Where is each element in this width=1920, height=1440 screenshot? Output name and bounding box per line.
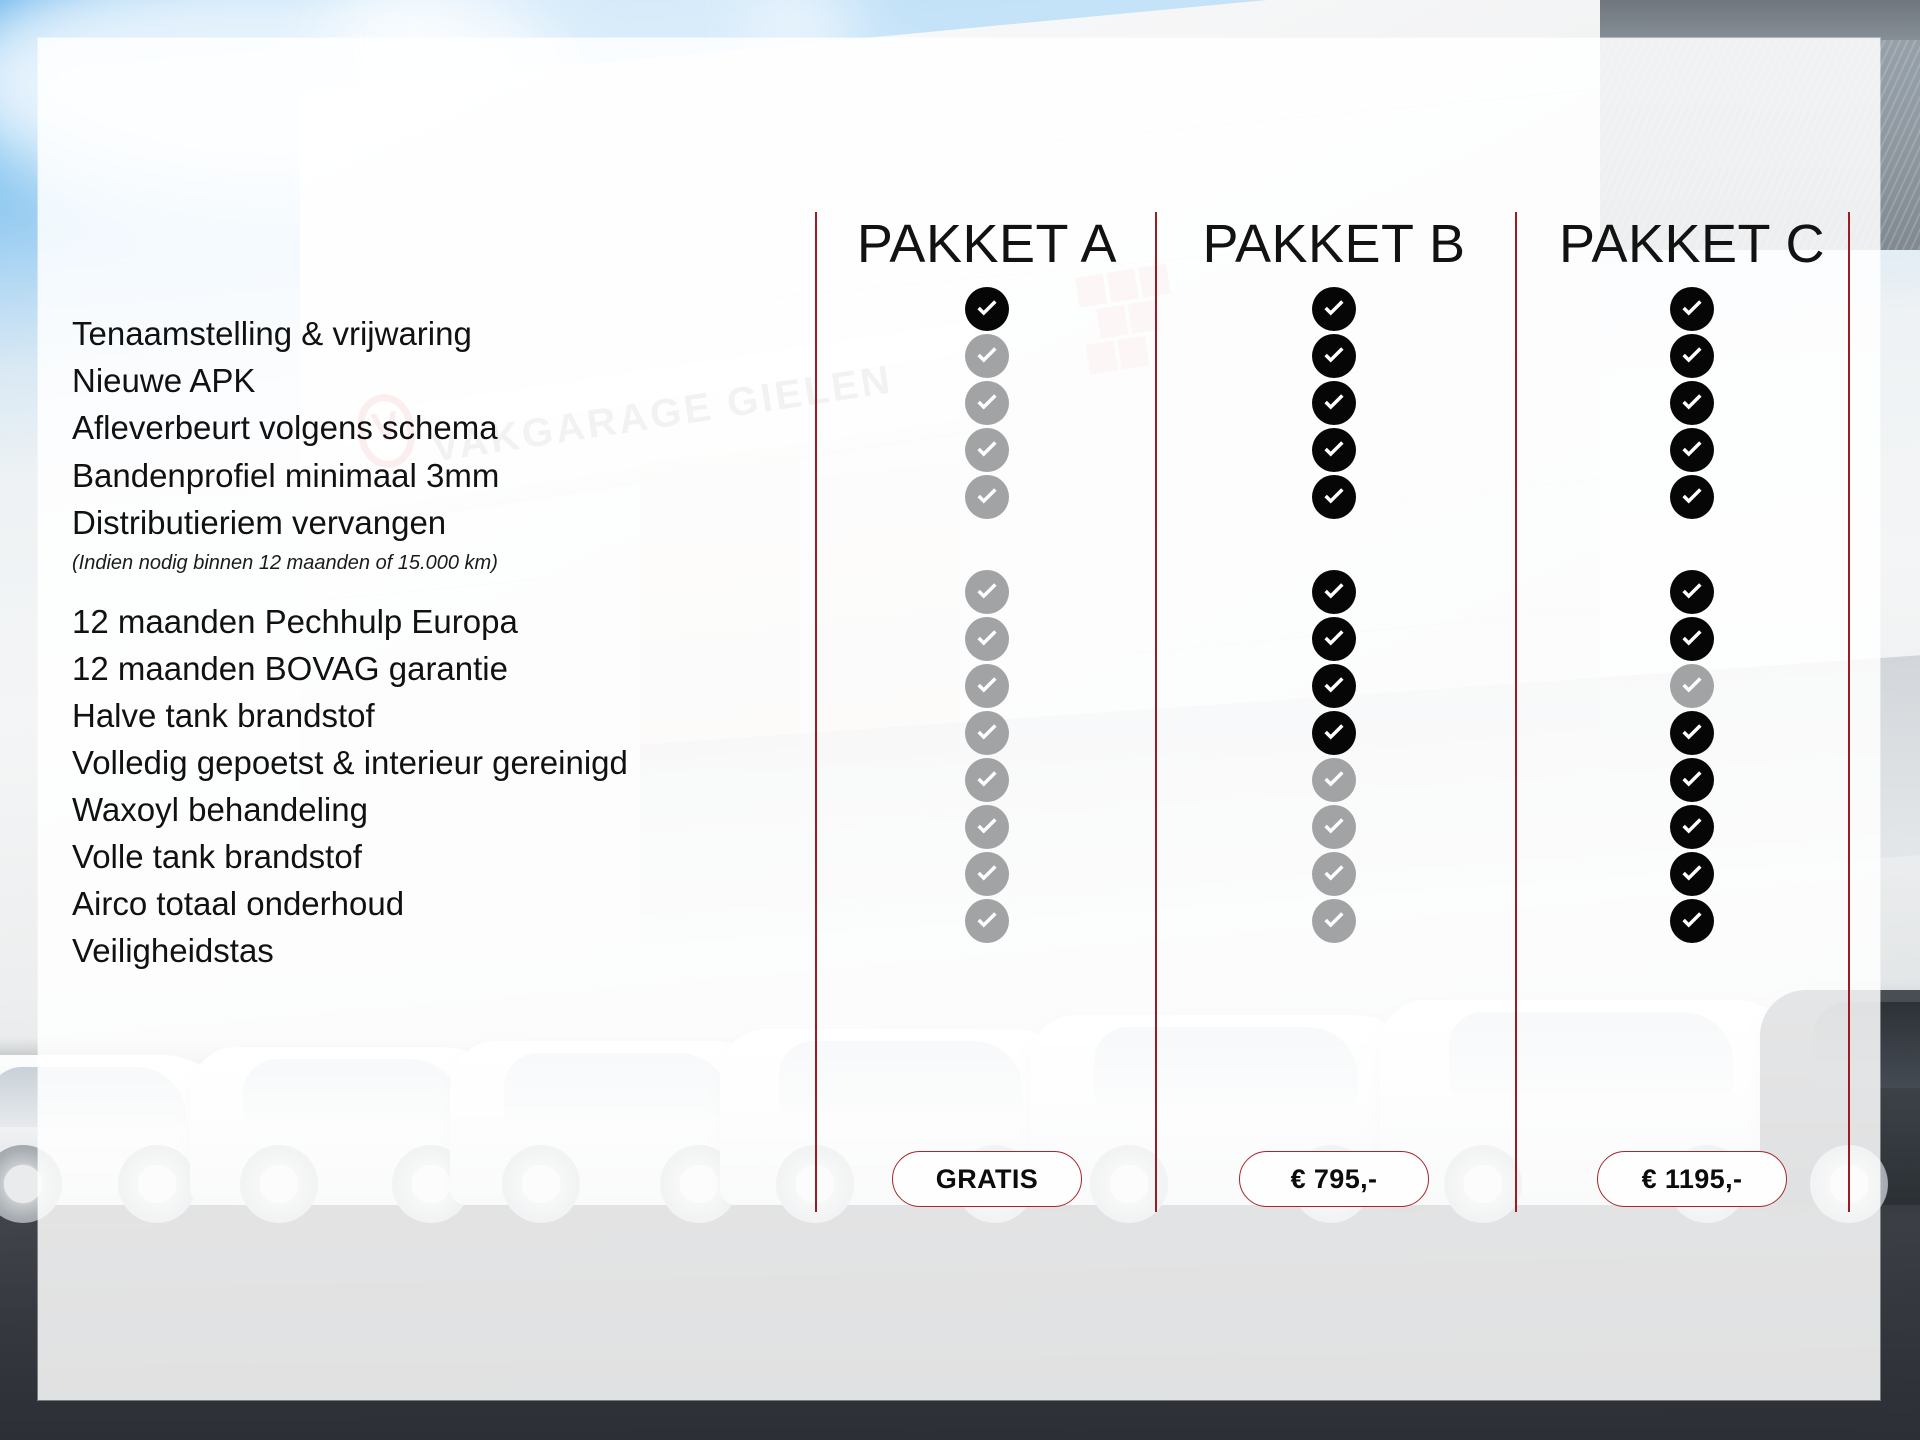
- price-button-b[interactable]: € 795,-: [1239, 1151, 1429, 1207]
- check-circle-icon: [1670, 570, 1714, 614]
- feature-label: Volle tank brandstof: [72, 839, 362, 875]
- check-circle-icon: [965, 334, 1009, 378]
- check-circle-icon: [1312, 899, 1356, 943]
- check-circle-icon: [1670, 805, 1714, 849]
- feature-label: Distributieriem vervangen: [72, 505, 446, 541]
- check-circle-icon: [1670, 381, 1714, 425]
- check-circle-icon: [1312, 381, 1356, 425]
- check-circle-icon: [965, 381, 1009, 425]
- package-header-c: PAKKET C: [1462, 213, 1920, 279]
- check-circle-icon: [1670, 475, 1714, 519]
- feature-label: Airco totaal onderhoud: [72, 886, 404, 922]
- feature-label: Halve tank brandstof: [72, 698, 375, 734]
- price-button-a[interactable]: GRATIS: [892, 1151, 1082, 1207]
- check-circle-icon: [1670, 899, 1714, 943]
- check-circle-icon: [965, 805, 1009, 849]
- check-circle-icon: [965, 758, 1009, 802]
- column-divider: [815, 212, 817, 1212]
- column-divider: [1848, 212, 1850, 1212]
- check-circle-icon: [1670, 334, 1714, 378]
- feature-label: Veiligheidstas: [72, 933, 274, 969]
- check-circle-icon: [965, 852, 1009, 896]
- check-circle-icon: [1312, 287, 1356, 331]
- check-circle-icon: [1670, 711, 1714, 755]
- check-circle-icon: [1312, 570, 1356, 614]
- check-circle-icon: [965, 570, 1009, 614]
- check-circle-icon: [965, 711, 1009, 755]
- feature-label: Bandenprofiel minimaal 3mm: [72, 458, 499, 494]
- check-circle-icon: [965, 617, 1009, 661]
- check-circle-icon: [1312, 758, 1356, 802]
- check-circle-icon: [1670, 664, 1714, 708]
- check-circle-icon: [1670, 287, 1714, 331]
- check-circle-icon: [1670, 758, 1714, 802]
- check-circle-icon: [1312, 711, 1356, 755]
- feature-label: Nieuwe APK: [72, 363, 255, 399]
- check-circle-icon: [1670, 617, 1714, 661]
- feature-label: 12 maanden BOVAG garantie: [72, 651, 508, 687]
- check-circle-icon: [1670, 852, 1714, 896]
- check-circle-icon: [965, 664, 1009, 708]
- price-button-c[interactable]: € 1195,-: [1597, 1151, 1787, 1207]
- check-circle-icon: [1670, 428, 1714, 472]
- feature-label: Waxoyl behandeling: [72, 792, 368, 828]
- feature-footnote: (Indien nodig binnen 12 maanden of 15.00…: [72, 551, 498, 575]
- feature-label: Volledig gepoetst & interieur gereinigd: [72, 745, 628, 781]
- column-divider: [1155, 212, 1157, 1212]
- feature-label: Afleverbeurt volgens schema: [72, 410, 498, 446]
- check-circle-icon: [965, 428, 1009, 472]
- check-circle-icon: [965, 899, 1009, 943]
- feature-label: 12 maanden Pechhulp Europa: [72, 604, 518, 640]
- check-circle-icon: [1312, 475, 1356, 519]
- check-circle-icon: [965, 287, 1009, 331]
- check-circle-icon: [965, 475, 1009, 519]
- check-circle-icon: [1312, 664, 1356, 708]
- column-divider: [1515, 212, 1517, 1212]
- check-circle-icon: [1312, 852, 1356, 896]
- check-circle-icon: [1312, 617, 1356, 661]
- check-circle-icon: [1312, 428, 1356, 472]
- feature-label: Tenaamstelling & vrijwaring: [72, 316, 472, 352]
- check-circle-icon: [1312, 805, 1356, 849]
- check-circle-icon: [1312, 334, 1356, 378]
